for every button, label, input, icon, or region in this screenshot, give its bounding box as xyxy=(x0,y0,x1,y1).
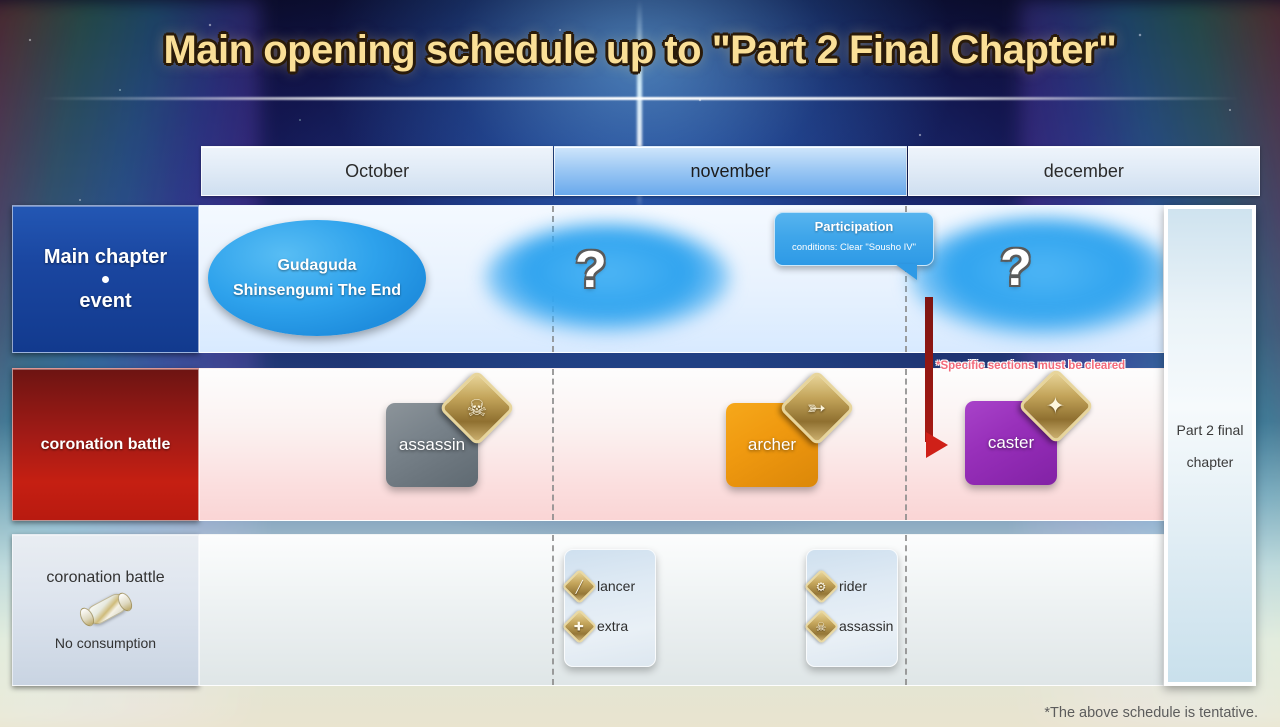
event-title-line1: Gudaguda xyxy=(277,257,356,275)
participation-tooltip-title: Participation xyxy=(775,219,933,234)
row-label-coronation-battle-free-text: coronation battle xyxy=(46,569,164,587)
separator-dot-icon xyxy=(102,276,109,283)
group-item-rider[interactable]: ⚙ rider xyxy=(807,566,897,606)
assassin-icon-glyph: ☠ xyxy=(816,619,827,633)
class-card-assassin-label: assassin xyxy=(399,435,465,455)
red-arrow-line xyxy=(925,297,933,442)
scroll-icon xyxy=(80,595,132,627)
row-label-main-chapter-top: Main chapter xyxy=(44,246,167,269)
no-consumption-label: No consumption xyxy=(55,635,156,651)
month-header-october[interactable]: October xyxy=(201,146,553,196)
row-main-chapter: Main chapter event Gudaguda Shinsengumi … xyxy=(12,205,1164,353)
bow-icon-glyph: ➳ xyxy=(807,397,826,420)
rider-icon-glyph: ⚙ xyxy=(816,579,827,593)
class-card-archer-label: archer xyxy=(748,435,796,455)
final-chapter-line2: chapter xyxy=(1187,454,1234,470)
group-item-extra-label: extra xyxy=(597,618,628,634)
group-item-assassin[interactable]: ☠ assassin xyxy=(807,606,897,646)
wand-icon-glyph: ✦ xyxy=(1046,395,1065,418)
participation-tooltip[interactable]: Participation conditions: Clear "Sousho … xyxy=(774,212,934,266)
month-divider-nov-dec-row3 xyxy=(905,535,907,685)
warning-text: *Specific sections must be cleared xyxy=(936,360,1125,372)
question-mark-1: ? xyxy=(575,244,607,296)
event-bubble-gudaguda[interactable]: Gudaguda Shinsengumi The End xyxy=(208,220,426,336)
light-beam-horizontal xyxy=(40,97,1240,100)
final-chapter-line1: Part 2 final xyxy=(1177,422,1244,438)
skull-icon-glyph: ☠ xyxy=(467,397,488,420)
row-label-coronation-battle-free: coronation battle No consumption xyxy=(12,534,199,686)
class-group-card-1[interactable]: ╱ lancer ✚ extra xyxy=(564,549,656,667)
lance-icon: ╱ xyxy=(562,568,597,603)
group-item-extra[interactable]: ✚ extra xyxy=(565,606,655,646)
group-item-rider-label: rider xyxy=(839,578,867,594)
month-header-december[interactable]: december xyxy=(908,146,1260,196)
final-chapter-panel[interactable]: Part 2 final chapter xyxy=(1164,205,1256,686)
event-title-line2: Shinsengumi The End xyxy=(233,282,401,300)
class-group-card-2[interactable]: ⚙ rider ☠ assassin xyxy=(806,549,898,667)
row-body-coronation-battle-paid: assassin ☠ archer ➳ caster ✦ xyxy=(199,368,1164,521)
row-coronation-battle-paid: coronation battle assassin ☠ archer ➳ ca… xyxy=(12,368,1164,521)
row-label-coronation-battle-paid: coronation battle xyxy=(12,368,199,521)
assassin-icon: ☠ xyxy=(804,608,839,643)
month-header-november[interactable]: november xyxy=(554,146,906,196)
lance-icon-glyph: ╱ xyxy=(576,579,583,593)
extra-icon: ✚ xyxy=(562,608,597,643)
group-item-lancer-label: lancer xyxy=(597,578,635,594)
row-body-coronation-battle-free: ╱ lancer ✚ extra ⚙ rider xyxy=(199,534,1164,686)
schedule-infographic: Main opening schedule up to "Part 2 Fina… xyxy=(0,0,1280,727)
unknown-event-blob-2 xyxy=(910,218,1164,336)
row-label-main-chapter-bottom: event xyxy=(79,290,131,313)
month-divider-oct-nov-row3 xyxy=(552,535,554,685)
row-label-coronation-battle-text: coronation battle xyxy=(41,436,171,454)
red-arrow-head-icon xyxy=(926,432,948,458)
row-label-main-chapter: Main chapter event xyxy=(12,205,199,353)
month-divider-nov-dec-row2 xyxy=(905,369,907,520)
month-divider-oct-nov-row2 xyxy=(552,369,554,520)
extra-icon-glyph: ✚ xyxy=(574,619,584,633)
footnote-text: *The above schedule is tentative. xyxy=(1044,705,1258,721)
row-body-main-chapter: Gudaguda Shinsengumi The End ? ? Partici… xyxy=(199,205,1164,353)
group-item-assassin-label: assassin xyxy=(839,618,893,634)
unknown-event-blob-1 xyxy=(485,224,730,332)
question-mark-2: ? xyxy=(1000,242,1032,294)
page-title: Main opening schedule up to "Part 2 Fina… xyxy=(0,28,1280,73)
row-coronation-battle-free: coronation battle No consumption ╱ lance… xyxy=(12,534,1164,686)
group-item-lancer[interactable]: ╱ lancer xyxy=(565,566,655,606)
month-header-row: October november december xyxy=(201,146,1260,196)
rider-icon: ⚙ xyxy=(804,568,839,603)
class-card-caster-label: caster xyxy=(988,433,1034,453)
participation-tooltip-body: conditions: Clear "Sousho IV" xyxy=(775,242,933,253)
